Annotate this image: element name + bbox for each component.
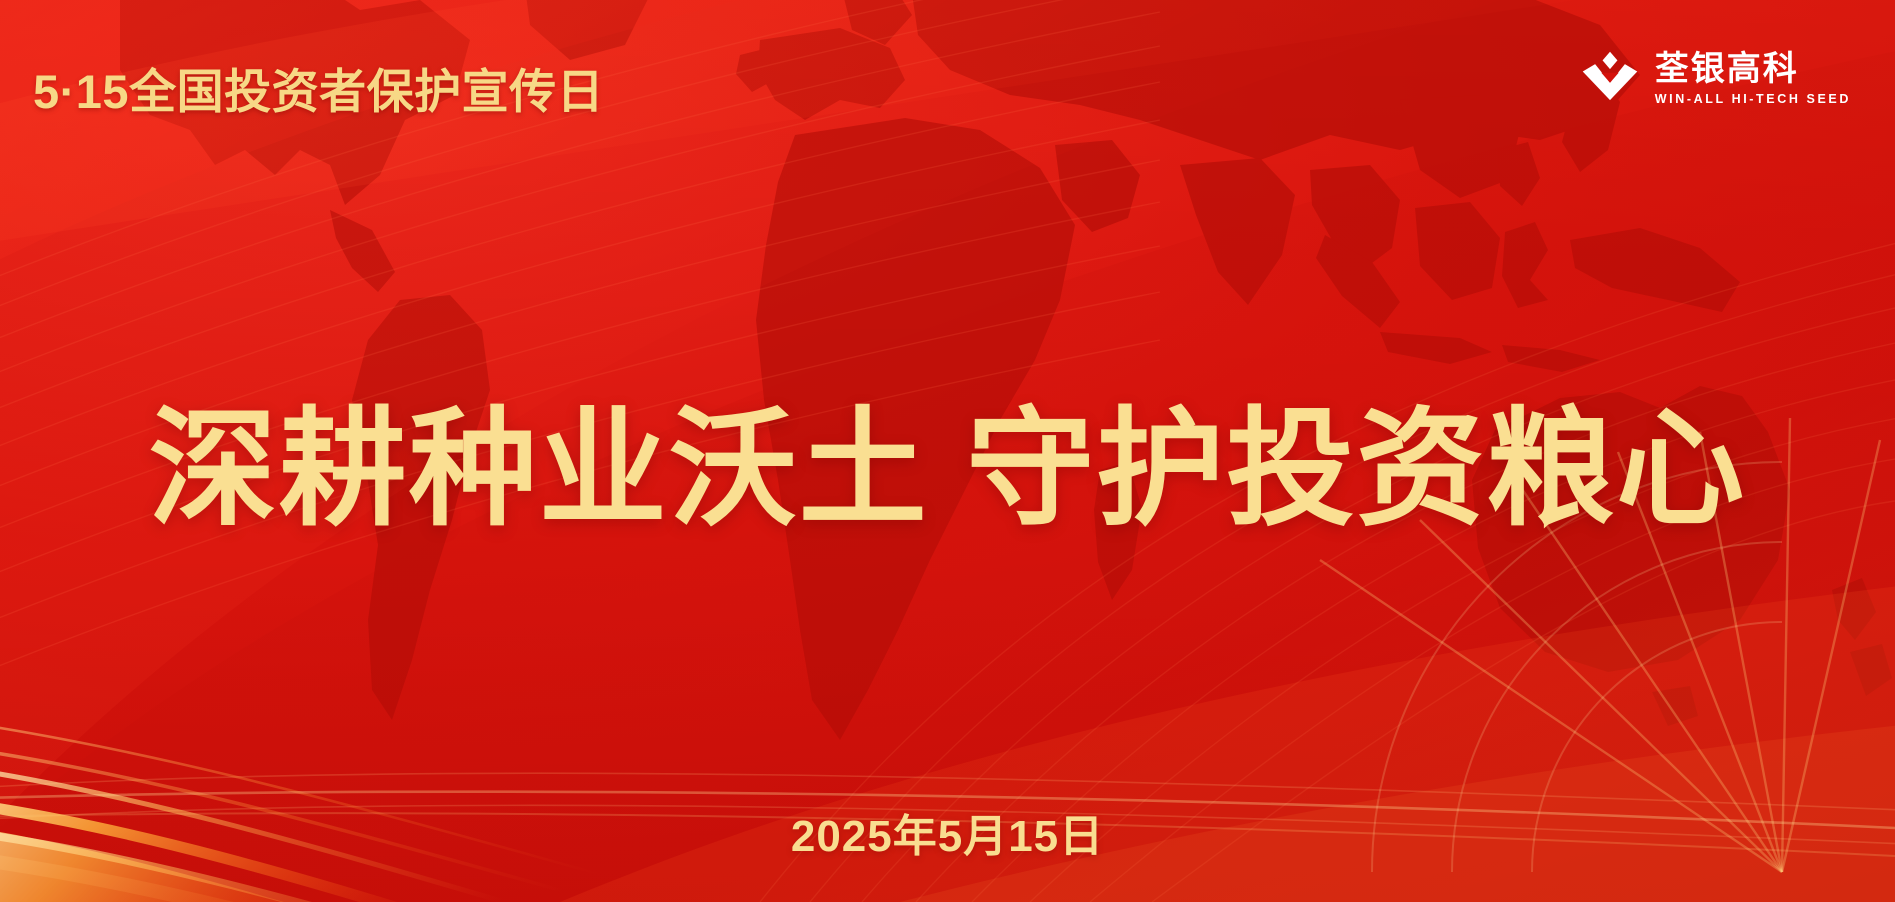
campaign-eyebrow-title: 5·15全国投资者保护宣传日 bbox=[33, 53, 604, 122]
company-logo: 荃银高科 WIN-ALL HI-TECH SEED bbox=[1579, 48, 1851, 110]
win-all-chevron-seed-mark-icon bbox=[1579, 48, 1641, 110]
logo-name-english: WIN-ALL HI-TECH SEED bbox=[1655, 92, 1851, 106]
banner-content: 5·15全国投资者保护宣传日 深耕种业沃土 守护投资粮心 2025年5月15日 … bbox=[0, 0, 1895, 902]
logo-wordmark: 荃银高科 WIN-ALL HI-TECH SEED bbox=[1655, 52, 1851, 106]
investor-protection-day-banner: 5·15全国投资者保护宣传日 深耕种业沃土 守护投资粮心 2025年5月15日 … bbox=[0, 0, 1895, 902]
logo-name-chinese: 荃银高科 bbox=[1655, 52, 1851, 88]
banner-headline: 深耕种业沃土 守护投资粮心 bbox=[0, 398, 1895, 541]
event-date: 2025年5月15日 bbox=[0, 800, 1895, 864]
